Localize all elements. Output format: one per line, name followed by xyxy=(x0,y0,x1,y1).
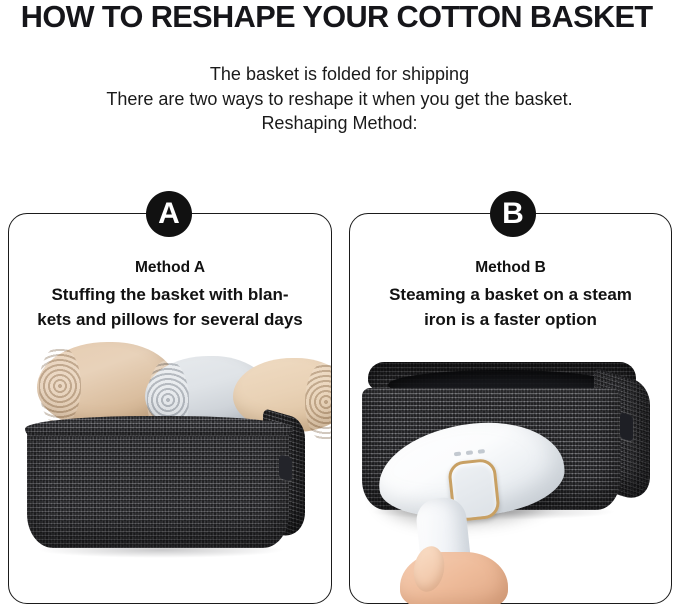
method-a-badge: A xyxy=(146,191,192,237)
infographic-page: HOW TO RESHAPE YOUR COTTON BASKET The ba… xyxy=(0,0,679,611)
method-b-description-line-2: iron is a faster option xyxy=(350,307,671,332)
steamer-indicator-dot xyxy=(478,449,485,454)
method-a-description-line-1: Stuffing the basket with blan- xyxy=(9,282,331,307)
method-b-illustration xyxy=(350,332,671,604)
handheld-steam-iron xyxy=(378,424,568,604)
method-b-description-line-1: Steaming a basket on a steam xyxy=(350,282,671,307)
subtitle-line-3: Reshaping Method: xyxy=(0,111,679,136)
method-a-description-line-2: kets and pillows for several days xyxy=(9,307,331,332)
basket-handle-icon xyxy=(620,412,633,441)
method-b-description: Steaming a basket on a steam iron is a f… xyxy=(350,282,671,332)
method-b-panel: Method B Steaming a basket on a steam ir… xyxy=(349,213,672,604)
page-title: HOW TO RESHAPE YOUR COTTON BASKET xyxy=(6,0,667,35)
method-a-illustration xyxy=(9,332,331,604)
steamer-indicator-dot xyxy=(454,452,461,457)
subtitle-line-2: There are two ways to reshape it when yo… xyxy=(0,87,679,112)
subtitle-line-1: The basket is folded for shipping xyxy=(0,62,679,87)
subtitle-block: The basket is folded for shipping There … xyxy=(0,62,679,136)
method-a-description: Stuffing the basket with blan- kets and … xyxy=(9,282,331,332)
method-b-badge: B xyxy=(490,191,536,237)
method-b-label: Method B xyxy=(350,258,671,277)
blanket-roll-spiral xyxy=(305,362,331,442)
method-a-panel: Method A Stuffing the basket with blan- … xyxy=(8,213,332,604)
basket-front-panel xyxy=(27,424,289,548)
basket-handle-icon xyxy=(279,454,292,481)
basket-drop-shadow xyxy=(37,542,285,558)
method-a-label: Method A xyxy=(9,258,331,277)
steamer-indicator-dot xyxy=(466,450,473,455)
basket-rim xyxy=(25,416,293,436)
cotton-basket-filled xyxy=(27,410,305,560)
